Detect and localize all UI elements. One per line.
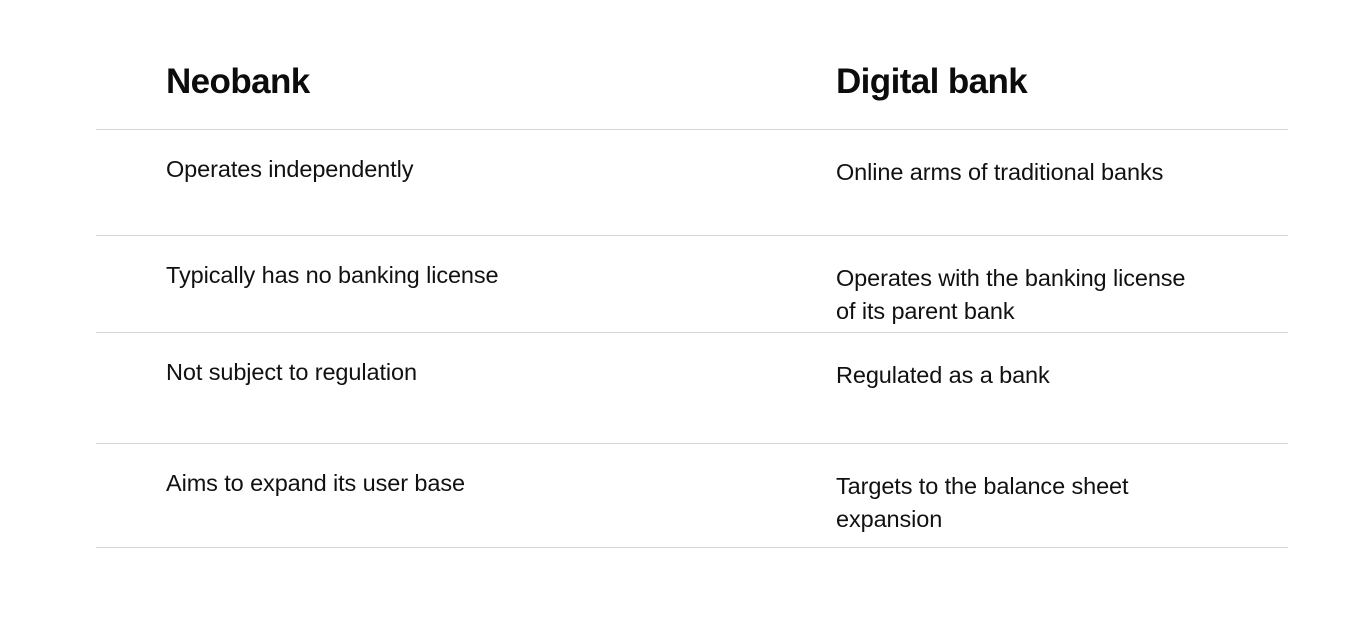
column-header-neobank: Neobank xyxy=(96,64,766,129)
cell-text-line: Not subject to regulation xyxy=(166,356,766,389)
table-header-row: Neobank Digital bank xyxy=(96,0,1288,129)
cell-text-line: of its parent bank xyxy=(836,295,1288,328)
cell-digital-1: Online arms of traditional banks xyxy=(766,130,1288,235)
cell-text-line: expansion xyxy=(836,503,1288,536)
cell-text-line: Typically has no banking license xyxy=(166,259,766,292)
cell-digital-4: Targets to the balance sheet expansion xyxy=(766,444,1288,547)
table-row: Aims to expand its user base Targets to … xyxy=(96,443,1288,548)
table-row: Typically has no banking license Operate… xyxy=(96,235,1288,332)
cell-digital-3: Regulated as a bank xyxy=(766,333,1288,443)
table-row: Not subject to regulation Regulated as a… xyxy=(96,332,1288,443)
cell-neobank-1: Operates independently xyxy=(96,130,766,235)
cell-text-line: Operates with the banking license xyxy=(836,262,1288,295)
column-header-digital-bank: Digital bank xyxy=(766,64,1288,129)
table-row: Operates independently Online arms of tr… xyxy=(96,129,1288,235)
cell-text-line: Regulated as a bank xyxy=(836,359,1288,392)
column-title-neobank: Neobank xyxy=(166,64,766,101)
column-title-digital-bank: Digital bank xyxy=(836,64,1288,101)
cell-text-line: Aims to expand its user base xyxy=(166,467,766,500)
cell-neobank-3: Not subject to regulation xyxy=(96,333,766,443)
cell-neobank-4: Aims to expand its user base xyxy=(96,444,766,547)
cell-neobank-2: Typically has no banking license xyxy=(96,236,766,332)
comparison-table: Neobank Digital bank Operates independen… xyxy=(96,0,1288,548)
cell-text-line: Operates independently xyxy=(166,153,766,186)
cell-text-line: Online arms of traditional banks xyxy=(836,156,1288,189)
cell-text-line: Targets to the balance sheet xyxy=(836,470,1288,503)
cell-digital-2: Operates with the banking license of its… xyxy=(766,236,1288,332)
